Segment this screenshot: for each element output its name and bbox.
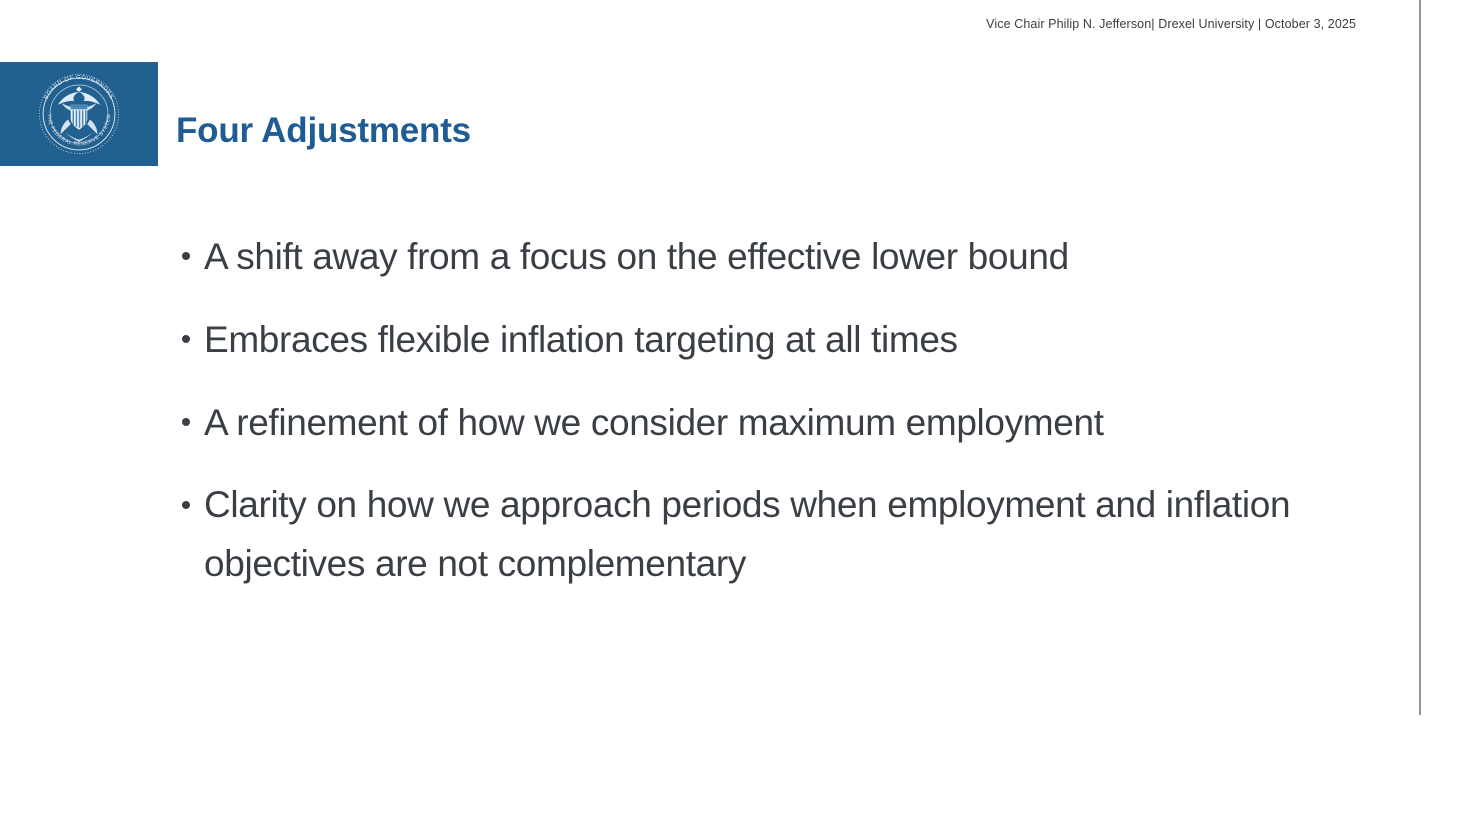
bullet-dot-icon	[182, 418, 190, 426]
list-item-label: Clarity on how we approach periods when …	[204, 476, 1356, 594]
list-item-label: Embraces flexible inflation targeting at…	[204, 311, 1356, 370]
bullet-dot-icon	[182, 335, 190, 343]
list-item: Embraces flexible inflation targeting at…	[176, 311, 1356, 370]
list-item: Clarity on how we approach periods when …	[176, 476, 1356, 594]
presentation-meta-line: Vice Chair Philip N. Jefferson| Drexel U…	[986, 16, 1356, 32]
list-item-label: A shift away from a focus on the effecti…	[204, 228, 1356, 287]
bullet-list: A shift away from a focus on the effecti…	[176, 228, 1356, 594]
list-item: A refinement of how we consider maximum …	[176, 394, 1356, 453]
logo-block: BOARD OF GOVERNORS THE FEDERAL RESERVE S…	[0, 62, 158, 166]
list-item: A shift away from a focus on the effecti…	[176, 228, 1356, 287]
page-title: Four Adjustments	[176, 111, 471, 151]
slide-canvas: Vice Chair Philip N. Jefferson| Drexel U…	[0, 0, 1464, 823]
right-vertical-rule	[1419, 0, 1421, 715]
bullet-dot-icon	[182, 501, 190, 509]
list-item-label: A refinement of how we consider maximum …	[204, 394, 1356, 453]
bullet-dot-icon	[182, 252, 190, 260]
federal-reserve-seal-icon: BOARD OF GOVERNORS THE FEDERAL RESERVE S…	[33, 68, 125, 160]
